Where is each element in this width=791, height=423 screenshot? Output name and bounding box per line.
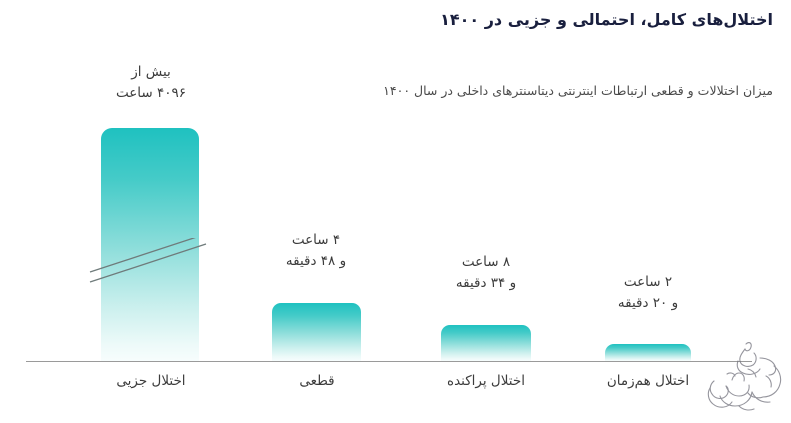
infographic-canvas: اختلال‌های کامل، احتمالی و جزیی در ۱۴۰۰ … [0, 0, 791, 423]
category-label-ekhtelal-jozii: اختلال جزیی [80, 372, 222, 391]
value-label-ekhtelal-jozii: بیش از ۴۰۹۶ ساعت [80, 62, 222, 103]
bar-ekhtelal-parakande[interactable] [441, 325, 531, 361]
value-label-ekhtelal-hamzaman: ۲ ساعت و ۲۰ دقیقه [577, 272, 719, 313]
bar-ekhtelal-jozii[interactable] [101, 128, 199, 361]
category-label-ekhtelal-parakande: اختلال پراکنده [415, 372, 557, 391]
bar-ghatee[interactable] [272, 303, 361, 361]
category-label-ekhtelal-hamzaman: اختلال هم‌زمان [577, 372, 719, 391]
value-label-ekhtelal-parakande: ۸ ساعت و ۳۴ دقیقه [415, 252, 557, 293]
bar-chart-plot-area: بیش از ۴۰۹۶ ساعت ۴ ساعت و ۴۸ دقیقه ۸ ساع… [0, 0, 791, 423]
category-label-ghatee: قطعی [246, 372, 388, 391]
bar-ekhtelal-hamzaman[interactable] [605, 344, 691, 361]
value-label-ghatee: ۴ ساعت و ۴۸ دقیقه [245, 230, 387, 271]
x-axis-line [26, 361, 752, 362]
